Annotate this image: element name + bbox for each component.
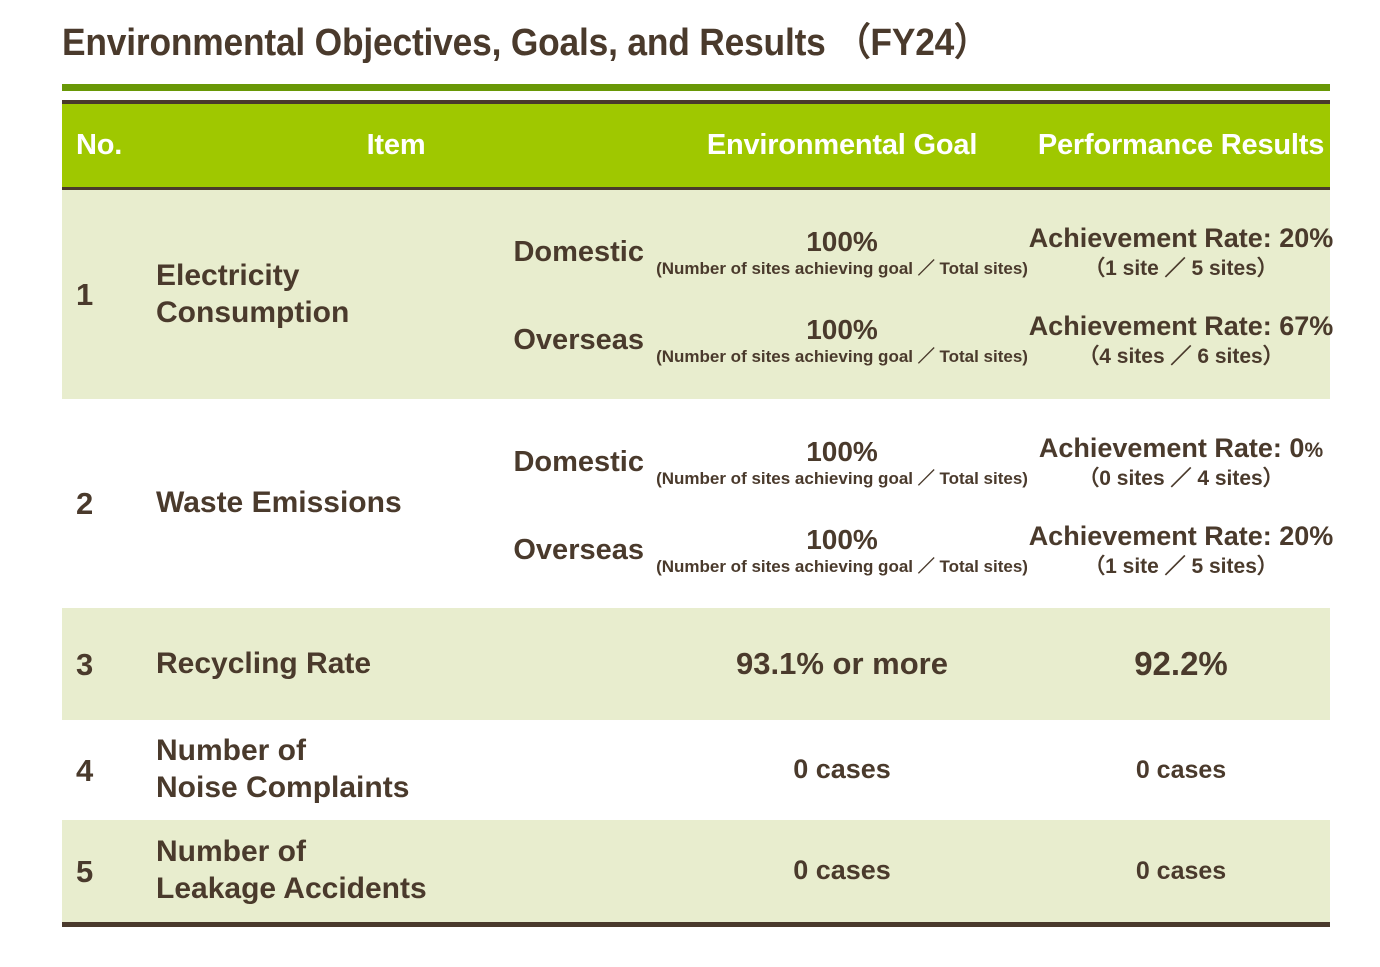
- row-number: 1: [62, 279, 140, 310]
- result-note: （1 site ／ 5 sites）: [1084, 554, 1278, 579]
- row-item-name: Electricity Consumption: [140, 258, 520, 331]
- result-value: 92.2%: [1134, 645, 1228, 683]
- column-header-goal: Environmental Goal: [652, 129, 1032, 162]
- goal-note: (Number of sites achieving goal ／ Total …: [656, 557, 1028, 577]
- table-row: 4 Number of Noise Complaints 0 cases 0 c…: [62, 720, 1330, 820]
- goal-value: 100%: [806, 436, 878, 468]
- row-item-name: Recycling Rate: [140, 646, 520, 683]
- row-item-name: Number of Leakage Accidents: [140, 834, 520, 907]
- row-subrows-group: Domestic 100% (Number of sites achieving…: [520, 399, 1330, 608]
- result-value: 0 cases: [1136, 756, 1226, 785]
- subrow: Domestic 100% (Number of sites achieving…: [520, 205, 1330, 297]
- table-row: 5 Number of Leakage Accidents 0 cases 0 …: [62, 820, 1330, 922]
- subrow: Domestic 100% (Number of sites achieving…: [520, 409, 1330, 507]
- goal-value: 100%: [806, 524, 878, 556]
- result-value-text: Achievement Rate: 0: [1039, 433, 1305, 463]
- result-value: Achievement Rate: 20%: [1029, 223, 1334, 254]
- result-note: （1 site ／ 5 sites）: [1084, 256, 1278, 281]
- scope-label: Overseas: [513, 536, 652, 565]
- subrow: Overseas 100% (Number of sites achieving…: [520, 297, 1330, 385]
- result-note: （0 sites ／ 4 sites）: [1078, 466, 1283, 491]
- title-block: Environmental Objectives, Goals, and Res…: [62, 22, 1330, 66]
- row-number: 5: [76, 856, 93, 887]
- goal-value: 93.1% or more: [736, 646, 948, 682]
- result-value: Achievement Rate: 67%: [1029, 311, 1334, 342]
- column-header-results: Performance Results: [1032, 129, 1330, 162]
- row-number: 3: [76, 649, 93, 680]
- row-number: 4: [76, 755, 93, 786]
- olive-rule-divider: [62, 84, 1330, 91]
- row-label-group: 1 Electricity Consumption: [62, 190, 520, 399]
- page-root: Environmental Objectives, Goals, and Res…: [0, 0, 1380, 967]
- page-title: Environmental Objectives, Goals, and Res…: [62, 22, 1241, 66]
- scope-label: Domestic: [513, 238, 652, 267]
- row-item-name: Waste Emissions: [140, 485, 520, 522]
- row-number: 2: [62, 488, 140, 519]
- scope-label: Overseas: [513, 326, 652, 355]
- result-value: Achievement Rate: 20%: [1029, 521, 1334, 552]
- scope-label: Domestic: [513, 448, 652, 477]
- result-value: Achievement Rate: 0%: [1039, 433, 1323, 464]
- result-percent-sign: %: [1304, 439, 1323, 462]
- table-row: 2 Waste Emissions Domestic 100% (Number …: [62, 399, 1330, 608]
- table-row: 1 Electricity Consumption Domestic 100% …: [62, 190, 1330, 399]
- subrow: Overseas 100% (Number of sites achieving…: [520, 507, 1330, 599]
- row-label-group: 2 Waste Emissions: [62, 399, 520, 608]
- result-value: 0 cases: [1136, 857, 1226, 886]
- goal-note: (Number of sites achieving goal ／ Total …: [656, 259, 1028, 279]
- row-item-name: Number of Noise Complaints: [140, 733, 520, 806]
- row-subrows-group: Domestic 100% (Number of sites achieving…: [520, 190, 1330, 399]
- goal-value: 100%: [806, 226, 878, 258]
- table-row: 3 Recycling Rate 93.1% or more 92.2%: [62, 608, 1330, 720]
- result-note: （4 sites ／ 6 sites）: [1078, 344, 1283, 369]
- goal-value: 100%: [806, 314, 878, 346]
- column-header-item: Item: [140, 129, 652, 162]
- goal-note: (Number of sites achieving goal ／ Total …: [656, 469, 1028, 489]
- environmental-objectives-table: No. Item Environmental Goal Performance …: [62, 104, 1330, 927]
- goal-note: (Number of sites achieving goal ／ Total …: [656, 347, 1028, 367]
- goal-value: 0 cases: [793, 754, 891, 785]
- goal-value: 0 cases: [793, 855, 891, 886]
- table-header-row: No. Item Environmental Goal Performance …: [62, 104, 1330, 190]
- column-header-no: No.: [62, 129, 140, 162]
